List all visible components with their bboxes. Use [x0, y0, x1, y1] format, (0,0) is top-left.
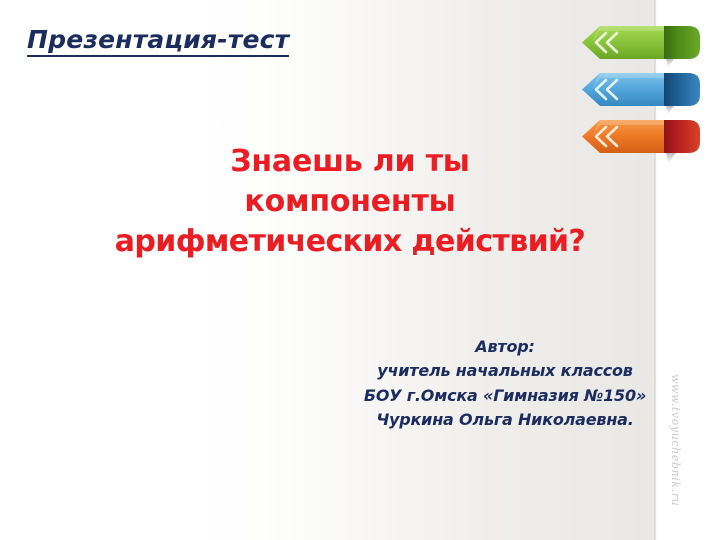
author-name: Чуркина Ольга Николаевна. — [340, 408, 670, 432]
question-line-3: арифметических действий? — [60, 222, 640, 262]
slide-kicker-title: Презентация-тест — [27, 26, 289, 57]
blue-ribbon — [582, 73, 700, 114]
question-line-1: Знаешь ли ты — [60, 142, 640, 182]
author-role: учитель начальных классов — [340, 359, 670, 383]
author-institution: БОУ г.Омска «Гимназия №150» — [340, 384, 670, 408]
author-block: Автор: учитель начальных классов БОУ г.О… — [340, 335, 670, 432]
presentation-slide: Презентация-тест — [0, 0, 720, 540]
main-question: Знаешь ли ты компоненты арифметических д… — [60, 142, 640, 262]
green-ribbon — [582, 26, 700, 67]
site-watermark: www.tvoyuchebnik.ru — [669, 374, 682, 504]
author-label: Автор: — [340, 335, 670, 359]
question-line-2: компоненты — [60, 182, 640, 222]
